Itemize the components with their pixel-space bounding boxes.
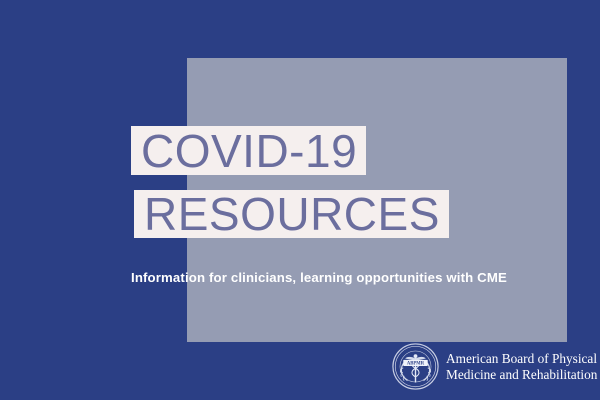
seal-banner-label: ABPMR <box>407 362 425 367</box>
title-line-1: COVID-19 <box>131 126 366 175</box>
subtitle-text: Information for clinicians, learning opp… <box>131 270 507 285</box>
logo-wordmark: American Board of Physical Medicine and … <box>446 351 597 382</box>
logo-line-1: American Board of Physical <box>446 351 597 367</box>
logo-line-2: Medicine and Rehabilitation <box>446 367 597 383</box>
title-line-2: RESOURCES <box>134 190 449 238</box>
abpmr-seal-icon: ABPMR <box>392 343 439 390</box>
organization-logo: ABPMR American Board of Physical Medicin… <box>392 343 597 390</box>
slide-canvas: COVID-19 RESOURCES Information for clini… <box>0 0 600 400</box>
